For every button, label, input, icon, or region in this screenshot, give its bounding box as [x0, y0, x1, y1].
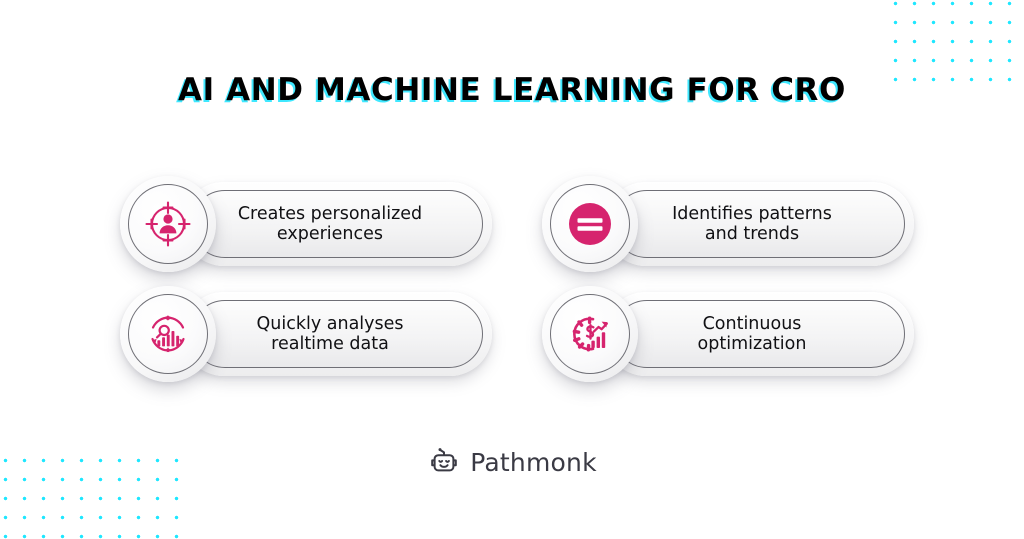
card-pill-background: [182, 182, 492, 266]
feature-card-continuous-optimization[interactable]: Continuous optimization: [542, 286, 914, 382]
brand-name: Pathmonk: [470, 448, 597, 477]
card-icon-badge: [120, 176, 216, 272]
page-title: AI AND MACHINE LEARNING FOR CRO: [0, 72, 1024, 108]
feature-card-identifies-patterns-and-trends[interactable]: Identifies patterns and trends: [542, 176, 914, 272]
analytics-refresh-icon: [141, 307, 195, 361]
card-icon-ring: [550, 184, 630, 264]
feature-card-quickly-analyses-realtime-data[interactable]: Quickly analyses realtime data: [120, 286, 492, 382]
card-pill-background: [182, 292, 492, 376]
card-icon-ring: [128, 294, 208, 374]
pathmonk-robot-icon: [427, 445, 461, 479]
card-pill-background: [604, 292, 914, 376]
feature-card-creates-personalized-experiences[interactable]: Creates personalized experiences: [120, 176, 492, 272]
feature-card-grid: Creates personalized experiences: [0, 176, 1024, 391]
gear-dollar-growth-icon: [563, 307, 617, 361]
card-pill-inner-border: [613, 300, 905, 368]
card-icon-ring: [128, 184, 208, 264]
card-pill-background: [604, 182, 914, 266]
card-pill-inner-border: [613, 190, 905, 258]
card-icon-badge: [120, 286, 216, 382]
card-icon-badge: [542, 176, 638, 272]
card-pill-inner-border: [191, 300, 483, 368]
equals-circle-icon: [564, 198, 616, 250]
footer-logo: Pathmonk: [0, 445, 1024, 479]
card-pill-inner-border: [191, 190, 483, 258]
card-icon-ring: [550, 294, 630, 374]
card-icon-badge: [542, 286, 638, 382]
target-person-icon: [142, 198, 194, 250]
